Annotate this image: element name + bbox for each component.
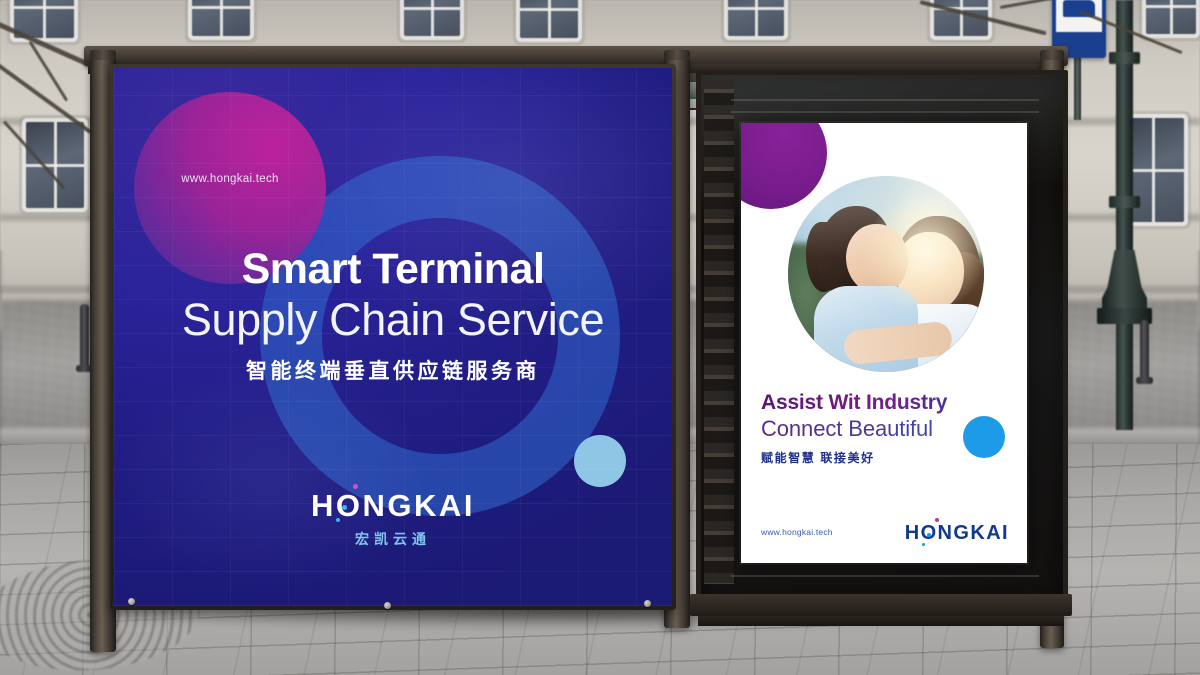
left-billboard-frame[interactable]: www.hongkai.tech Smart Terminal Supply C… xyxy=(110,64,676,610)
bus-shelter: Assist Wit Industry Connect Beautiful 赋能… xyxy=(84,24,1068,654)
shelter-display-case[interactable]: Assist Wit Industry Connect Beautiful 赋能… xyxy=(696,70,1068,606)
right-poster-text-block: Assist Wit Industry Connect Beautiful 赋能… xyxy=(761,391,1005,466)
billboard-bolt xyxy=(644,600,651,607)
left-poster-text-block: Smart Terminal Supply Chain Service 智能终端… xyxy=(114,246,672,385)
logo-node-dot-icon xyxy=(922,543,925,546)
logo-wordmark-wrapper: HONGKAI xyxy=(311,488,475,524)
right-poster-url: www.hongkai.tech xyxy=(761,527,833,537)
left-poster-url-badge: www.hongkai.tech xyxy=(140,173,320,185)
left-poster-subhead: Supply Chain Service xyxy=(114,294,672,345)
logo-node-dot-icon xyxy=(935,518,939,522)
shelter-roof-top xyxy=(84,46,1068,66)
left-poster-headline: Smart Terminal xyxy=(114,246,672,292)
right-poster-headline: Assist Wit Industry xyxy=(761,391,1005,415)
building-window xyxy=(1146,0,1196,34)
right-poster[interactable]: Assist Wit Industry Connect Beautiful 赋能… xyxy=(741,123,1027,563)
light-blue-circle-decoration xyxy=(574,435,626,487)
case-edge-strip xyxy=(704,79,734,584)
bollard xyxy=(1140,320,1149,380)
right-poster-subhead: Connect Beautiful xyxy=(761,416,1005,442)
shelter-bench-shadow xyxy=(698,616,1064,626)
shelter-bench xyxy=(690,594,1072,616)
left-poster[interactable]: www.hongkai.tech Smart Terminal Supply C… xyxy=(114,68,672,606)
logo-chinese-name: 宏凯云通 xyxy=(114,529,672,549)
billboard-bolt xyxy=(384,602,391,609)
logo-node-dot-icon xyxy=(927,533,931,537)
right-poster-chinese-tagline: 赋能智慧 联接美好 xyxy=(761,449,1005,466)
right-poster-logo: HONGKAI xyxy=(905,522,1009,545)
building-window xyxy=(26,122,84,208)
logo-wordmark: HONGKAI xyxy=(905,522,1009,545)
advertising-mockup-scene: Assist Wit Industry Connect Beautiful 赋能… xyxy=(0,0,1200,675)
billboard-bolt xyxy=(128,598,135,605)
left-poster-logo: HONGKAI 宏凯云通 xyxy=(114,488,672,549)
family-photo xyxy=(788,176,984,372)
left-poster-chinese-tagline: 智能终端垂直供应链服务商 xyxy=(114,355,672,385)
